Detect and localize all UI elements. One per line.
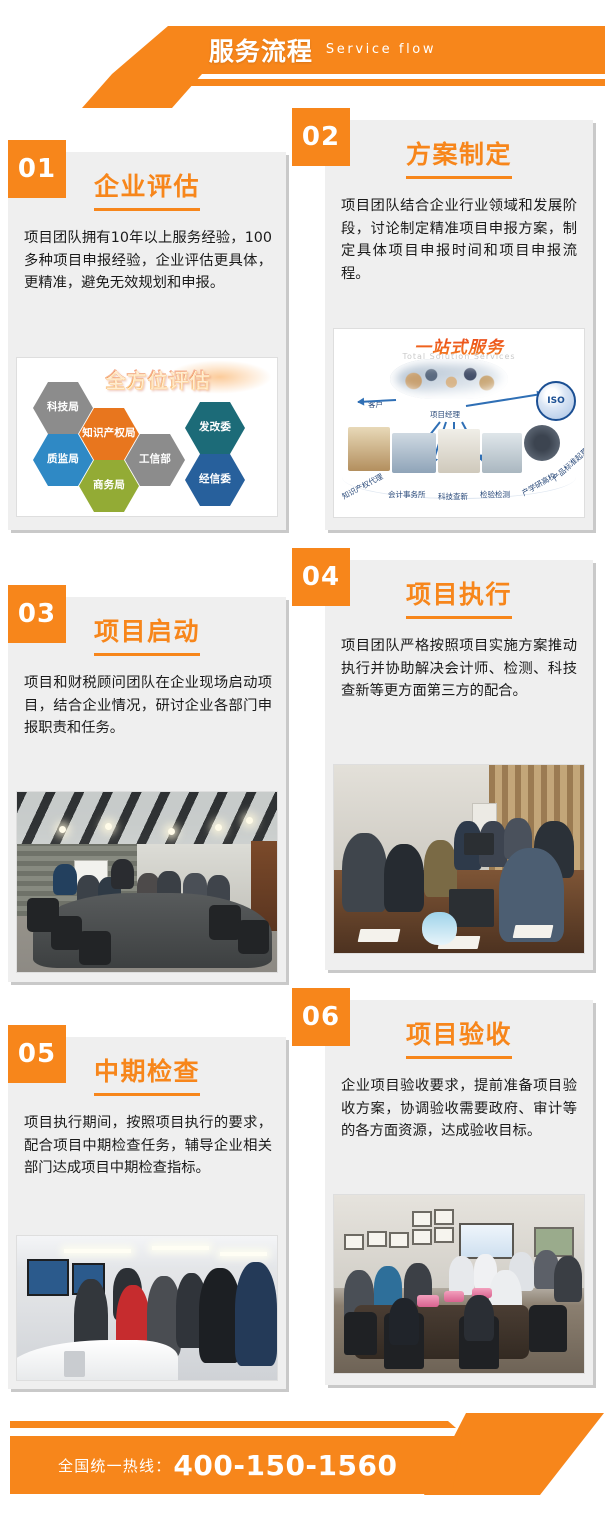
card-title-03: 项目启动 xyxy=(94,619,200,644)
process-card-03: 项目启动 项目和财税顾问团队在企业现场启动项目，结合企业情况，研讨企业各部门申报… xyxy=(8,597,286,982)
title-rule-01 xyxy=(94,208,200,211)
header-underline-stripe xyxy=(0,79,605,86)
process-card-04: 项目执行 项目团队严格按照项目实施方案推动执行并协助解决会计师、检测、科技查新等… xyxy=(325,560,593,970)
process-card-01: 企业评估 项目团队拥有10年以上服务经验，100多种项目申报经验，企业评估更具体… xyxy=(8,152,286,530)
hexagon-diagram-caption: 全方位评估 xyxy=(105,364,210,393)
hotline-label: 全国统一热线： xyxy=(58,1455,171,1476)
card-media-01: 全方位评估 科技局 知识产权局 质监局 商务局 工信部 发改委 经信委 xyxy=(16,357,278,517)
hotline-number[interactable]: 400-150-1560 xyxy=(173,1449,397,1482)
card-media-06 xyxy=(333,1194,585,1374)
card-title-wrap-04: 项目执行 xyxy=(325,560,593,619)
card-badge-02: 02 xyxy=(292,108,350,166)
photo-kickoff-meeting xyxy=(17,792,277,972)
card-title-02: 方案制定 xyxy=(406,142,512,167)
page-title: 服务流程 xyxy=(209,32,313,68)
card-title-06: 项目验收 xyxy=(406,1022,512,1047)
service-label-inspection: 检验检测 xyxy=(480,489,510,500)
card-title-wrap-06: 项目验收 xyxy=(325,1000,593,1059)
card-badge-03: 03 xyxy=(8,585,66,643)
process-card-05: 中期检查 项目执行期间，按照项目执行的要求，配合项目中期检查任务，辅导企业相关部… xyxy=(8,1037,286,1389)
hexagon-diagram: 全方位评估 科技局 知识产权局 质监局 商务局 工信部 发改委 经信委 xyxy=(17,358,277,516)
service-node-manager: 项目经理 xyxy=(430,409,460,420)
iso-seal-icon: ISO xyxy=(536,381,576,421)
card-title-05: 中期检查 xyxy=(94,1059,200,1084)
page-subtitle: Service flow xyxy=(326,42,436,58)
footer-hotline-group: 全国统一热线： 400-150-1560 xyxy=(10,1436,462,1494)
title-rule-02 xyxy=(406,176,512,179)
card-badge-01: 01 xyxy=(8,140,66,198)
card-title-wrap-02: 方案制定 xyxy=(325,120,593,179)
photo-project-acceptance xyxy=(334,1195,584,1373)
title-rule-03 xyxy=(94,653,200,656)
card-media-03 xyxy=(16,791,278,973)
card-body-04: 项目团队严格按照项目实施方案推动执行并协助解决会计师、检测、科技查新等更方面第三… xyxy=(325,619,593,703)
title-rule-05 xyxy=(94,1093,200,1096)
hex-node-fagaiwei: 发改委 xyxy=(185,402,245,454)
card-badge-04: 04 xyxy=(292,548,350,606)
title-rule-06 xyxy=(406,1056,512,1059)
service-flow-diagram: 一站式服务 Total Solution Services 客户 项目经理 IS… xyxy=(334,329,584,517)
header-title-group: 服务流程 Service flow xyxy=(0,26,605,74)
card-body-06: 企业项目验收要求，提前准备项目验收方案，协调验收需要政府、审计等的各方面资源，达… xyxy=(325,1059,593,1143)
thumb-roundtable xyxy=(524,425,560,461)
card-media-05 xyxy=(16,1235,278,1381)
service-diagram-hero-photo xyxy=(390,359,508,399)
title-rule-04 xyxy=(406,616,512,619)
process-card-06: 项目验收 企业项目验收要求，提前准备项目验收方案，协调验收需要政府、审计等的各方… xyxy=(325,1000,593,1385)
process-card-02: 方案制定 项目团队结合企业行业领域和发展阶段，讨论制定精准项目申报方案，制定具体… xyxy=(325,120,593,530)
page-header: 服务流程 Service flow xyxy=(0,0,605,92)
page-footer: 全国统一热线： 400-150-1560 xyxy=(0,1413,605,1538)
photo-project-execution xyxy=(334,765,584,953)
card-body-02: 项目团队结合企业行业领域和发展阶段，讨论制定精准项目申报方案，制定具体项目申报时… xyxy=(325,179,593,285)
photo-midterm-inspection xyxy=(17,1236,277,1380)
card-media-04 xyxy=(333,764,585,954)
card-title-01: 企业评估 xyxy=(94,174,200,199)
card-badge-05: 05 xyxy=(8,1025,66,1083)
card-media-02: 一站式服务 Total Solution Services 客户 项目经理 IS… xyxy=(333,328,585,518)
service-label-accounting: 会计事务所 xyxy=(388,489,426,500)
card-body-05: 项目执行期间，按照项目执行的要求，配合项目中期检查任务，辅导企业相关部门达成项目… xyxy=(8,1096,286,1180)
hex-node-jingxinwei: 经信委 xyxy=(185,454,245,506)
card-body-03: 项目和财税顾问团队在企业现场启动项目，结合企业情况，研讨企业各部门申报职责和任务… xyxy=(8,656,286,740)
card-badge-06: 06 xyxy=(292,988,350,1046)
card-body-01: 项目团队拥有10年以上服务经验，100多种项目申报经验，企业评估更具体，更精准，… xyxy=(8,211,286,295)
service-label-novelty: 科技查新 xyxy=(438,491,468,502)
card-title-04: 项目执行 xyxy=(406,582,512,607)
